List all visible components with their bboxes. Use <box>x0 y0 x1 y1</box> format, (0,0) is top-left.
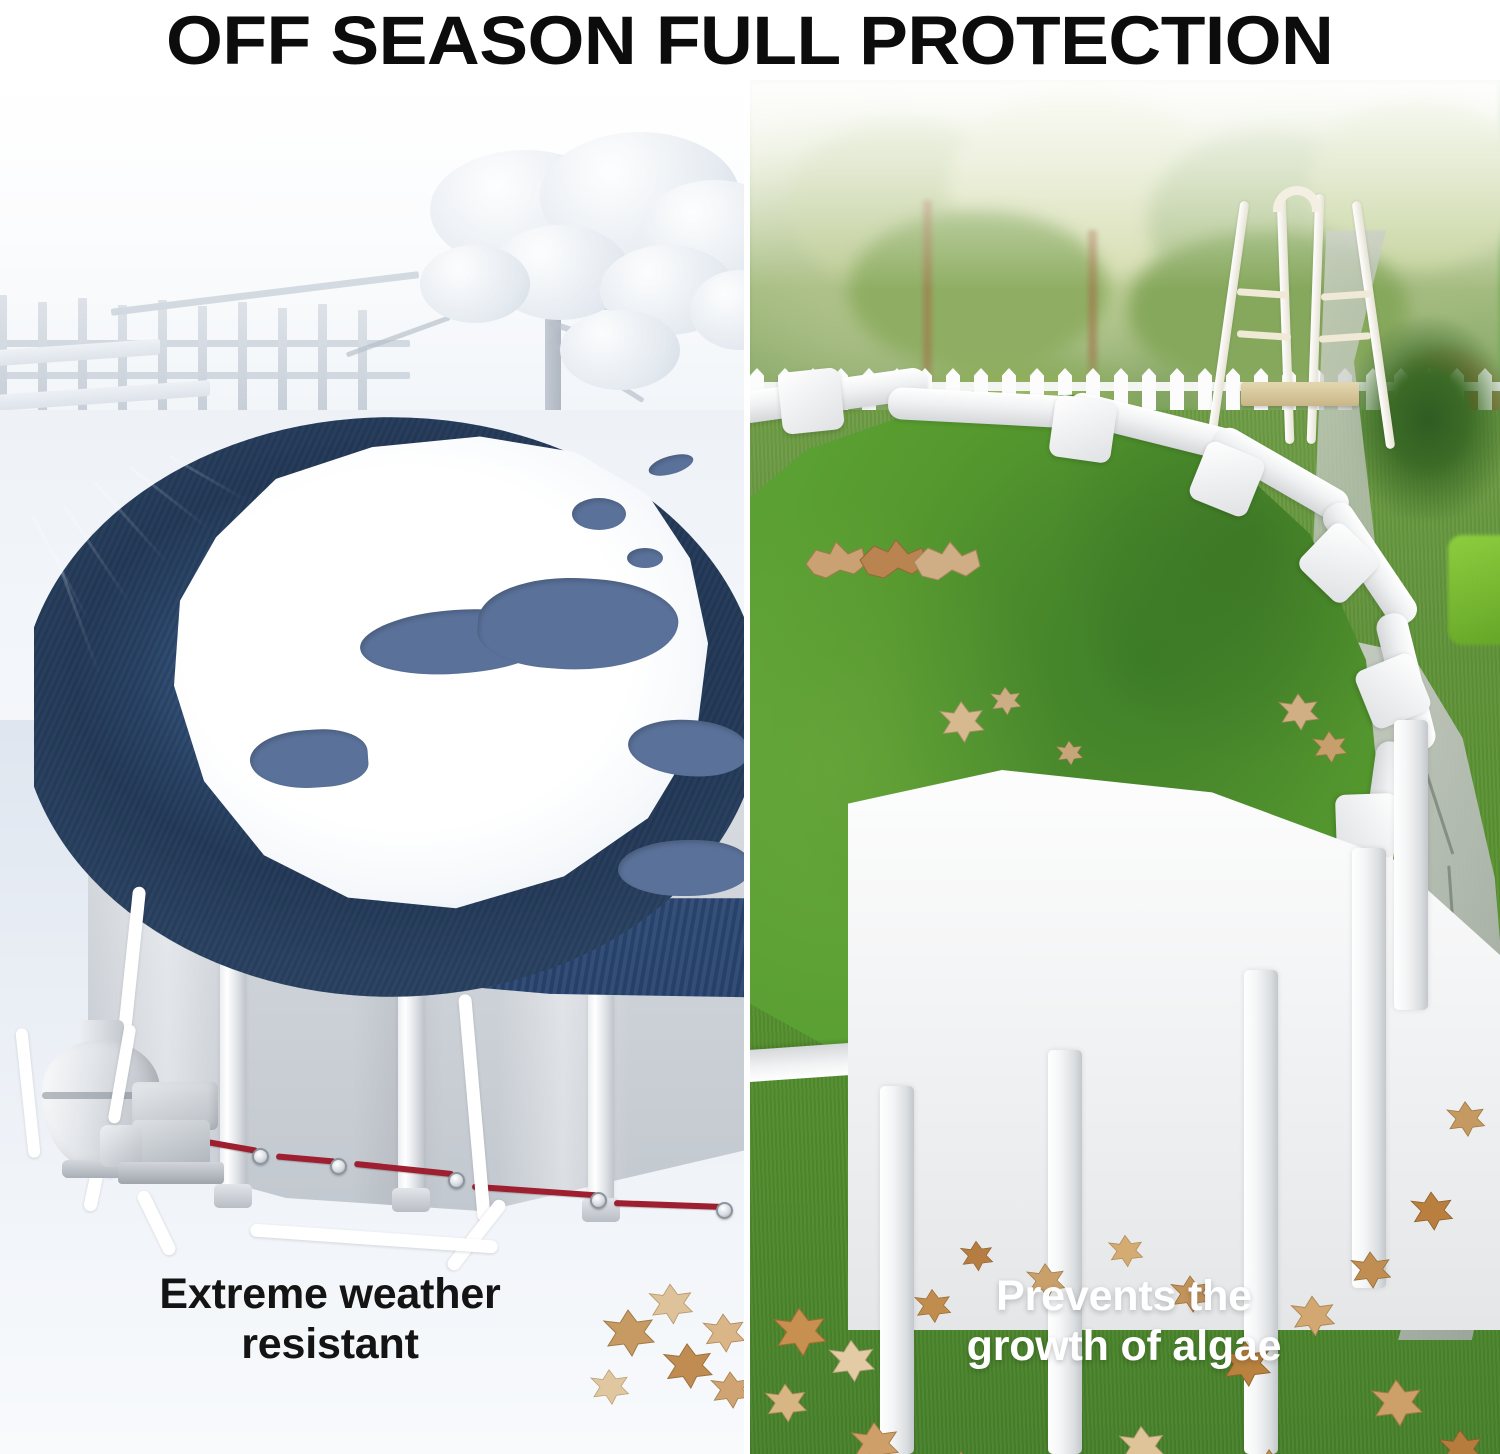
fallen-leaf <box>588 1368 630 1411</box>
fallen-leaf <box>762 1382 808 1429</box>
caption-right-line2: growth of algae <box>748 1322 1500 1372</box>
split-comparison-stage: Extreme weather resistant <box>0 80 1500 1454</box>
fallen-leaf <box>708 1370 748 1415</box>
fallen-leaf <box>938 1450 984 1454</box>
fallen-leaf <box>1106 1234 1144 1273</box>
floating-leaf-cluster <box>796 530 996 605</box>
panel-uncovered-algae-pool: Prevents the growth of algae <box>748 80 1500 1454</box>
exposed-cover-patch <box>572 498 626 530</box>
pump-motor-body <box>132 1120 210 1168</box>
fallen-leaf <box>1436 1428 1484 1454</box>
caption-right-line1: Prevents the <box>748 1272 1500 1322</box>
caption-right: Prevents the growth of algae <box>748 1272 1500 1372</box>
floating-leaf <box>988 686 1022 721</box>
caption-left-line2: resistant <box>0 1320 660 1370</box>
headline-banner: OFF SEASON FULL PROTECTION <box>0 0 1500 80</box>
product-feature-image: OFF SEASON FULL PROTECTION <box>0 0 1500 1454</box>
floating-leaf <box>1054 740 1084 771</box>
exposed-cover-patch <box>618 840 748 896</box>
ladder-platform <box>1241 382 1359 406</box>
pool-ladder <box>1203 200 1403 460</box>
cover-grommet <box>330 1158 347 1175</box>
fallen-leaf <box>700 1312 746 1359</box>
pool-upright-right <box>1352 848 1386 1288</box>
fallen-leaf <box>1368 1378 1424 1433</box>
fallen-leaf <box>1248 1448 1290 1454</box>
pump-base-plinth <box>118 1162 224 1184</box>
sand-filter-pump <box>24 1010 264 1230</box>
fallen-leaf <box>848 1420 900 1454</box>
fallen-leaf <box>1116 1424 1166 1454</box>
pump-strainer-basket <box>100 1125 142 1167</box>
pool-upright-right <box>1394 720 1428 1010</box>
green-lawn-equipment <box>1448 535 1500 645</box>
pool-upright-right <box>880 1086 914 1454</box>
cover-grommet <box>716 1202 733 1219</box>
caption-left: Extreme weather resistant <box>0 1270 660 1370</box>
cover-grommet <box>590 1192 607 1209</box>
pool-upright-right <box>1048 1050 1082 1454</box>
cover-grommet <box>448 1172 465 1189</box>
panel-winter-covered-pool: Extreme weather resistant <box>0 80 748 1454</box>
caption-left-line1: Extreme weather <box>0 1270 660 1320</box>
pool-upright-foot <box>392 1188 430 1212</box>
rail-corner-cap <box>777 367 845 435</box>
panel-divider <box>744 80 750 1454</box>
snow-covered-fence-icon <box>0 220 710 430</box>
exposed-cover-patch <box>627 548 663 568</box>
rail-corner-cap <box>1048 394 1118 464</box>
floating-leaf <box>936 700 986 749</box>
fallen-leaf <box>1408 1190 1454 1237</box>
headline-text: OFF SEASON FULL PROTECTION <box>166 6 1333 75</box>
fallen-leaf <box>1444 1100 1486 1143</box>
floating-leaf <box>1310 730 1348 769</box>
